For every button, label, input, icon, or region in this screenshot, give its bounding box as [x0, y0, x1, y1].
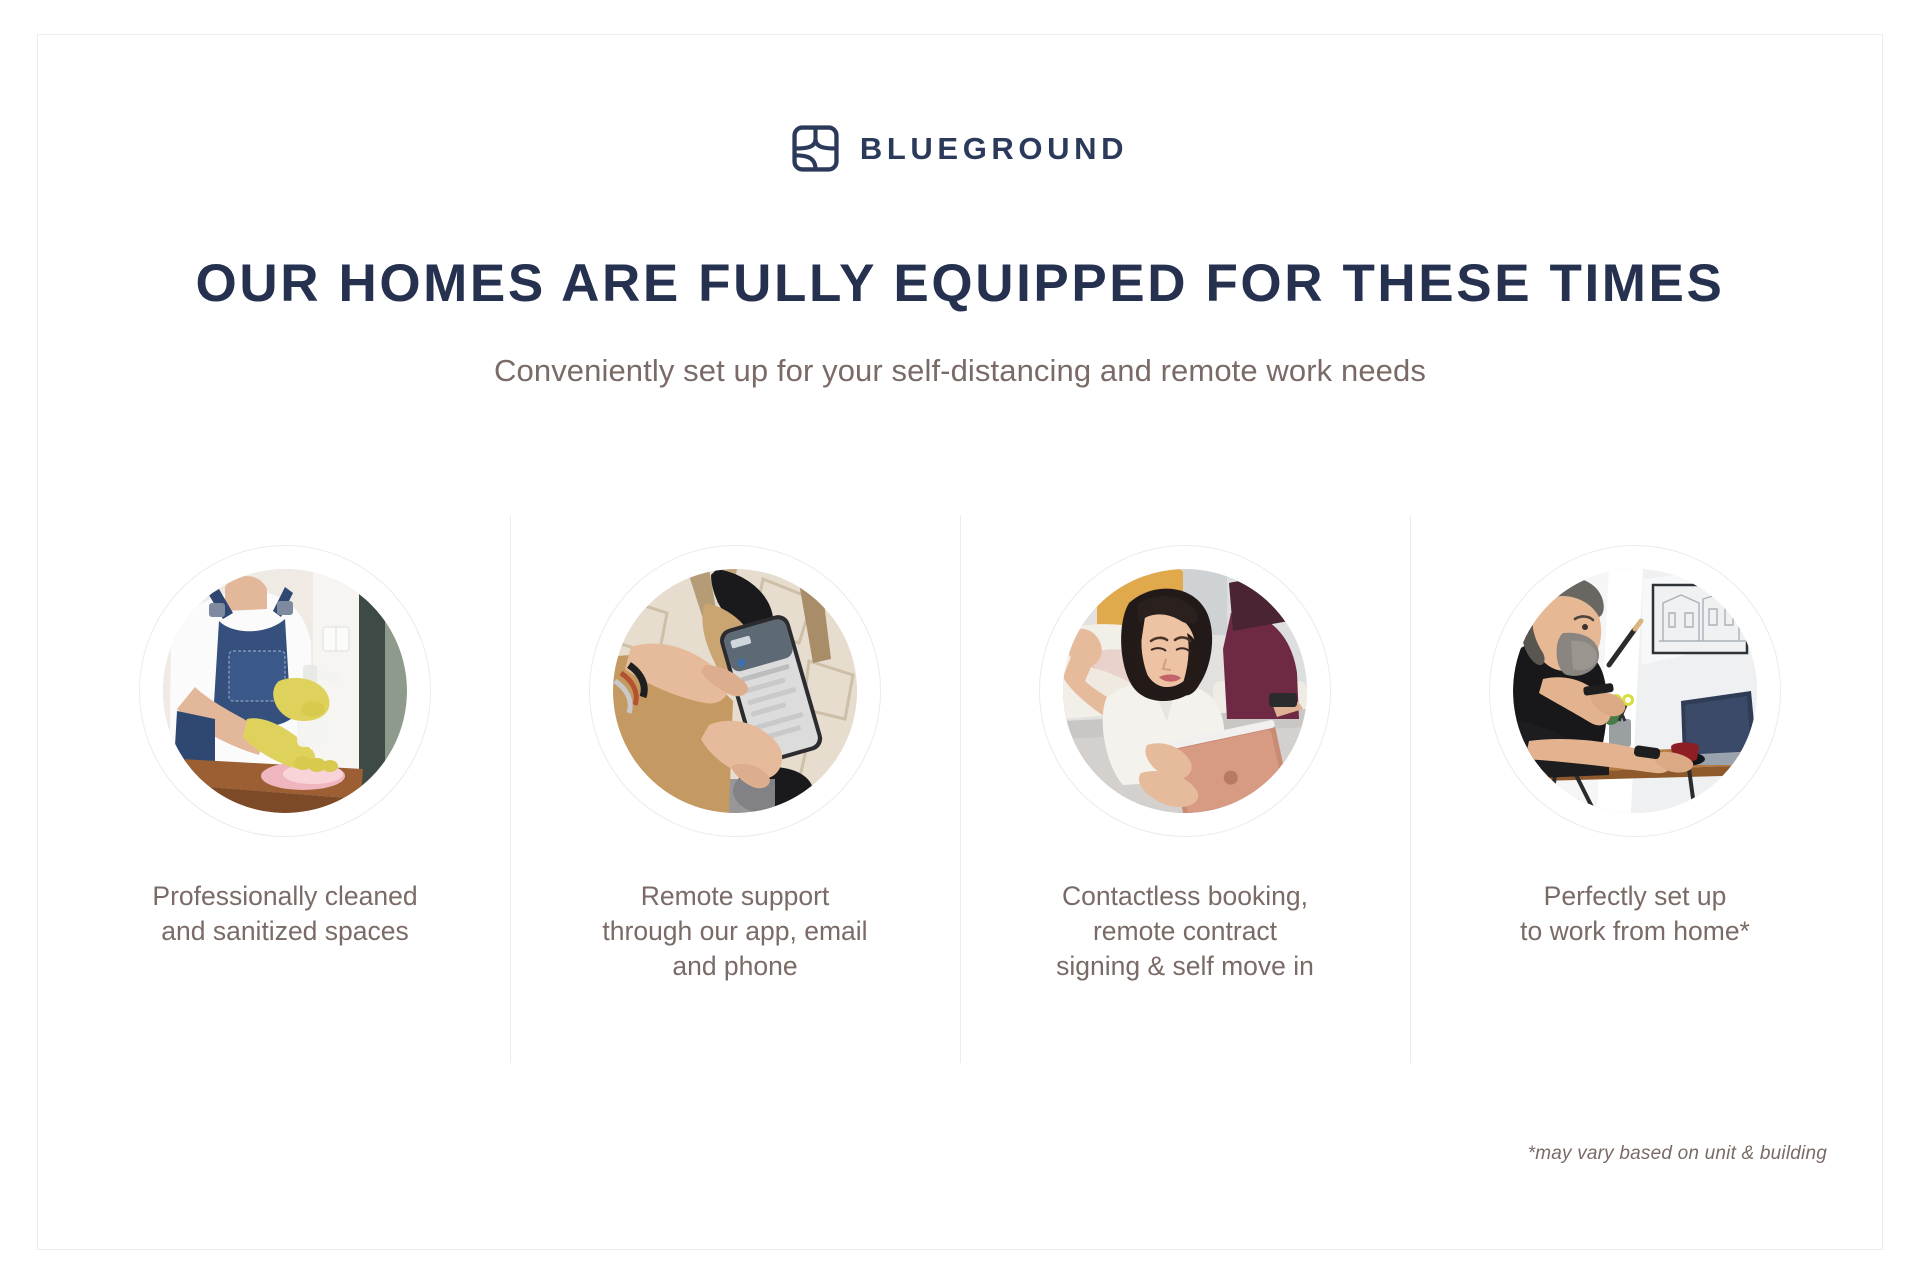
cleaning-professional-photo — [163, 569, 407, 813]
infographic-page: BLUEGROUND OUR HOMES ARE FULLY EQUIPPED … — [0, 0, 1920, 1280]
feature-column-cleaning: Professionally cleaned and sanitized spa… — [60, 515, 510, 1063]
brand-lockup: BLUEGROUND — [0, 125, 1920, 172]
mobile-app-support-photo — [613, 569, 857, 813]
feature-image-ring — [1039, 545, 1331, 837]
feature-caption: Contactless booking, remote contract sig… — [960, 879, 1410, 984]
feature-caption: Professionally cleaned and sanitized spa… — [60, 879, 510, 949]
feature-image-ring — [1489, 545, 1781, 837]
feature-column-remote-support: Remote support through our app, email an… — [510, 515, 960, 1063]
feature-caption: Remote support through our app, email an… — [510, 879, 960, 984]
page-title: OUR HOMES ARE FULLY EQUIPPED FOR THESE T… — [0, 255, 1920, 312]
brand-name: BLUEGROUND — [860, 133, 1128, 164]
blueground-logo-icon — [792, 125, 839, 172]
feature-columns: Professionally cleaned and sanitized spa… — [60, 515, 1860, 1063]
feature-caption: Perfectly set up to work from home* — [1410, 879, 1860, 949]
feature-image-ring — [139, 545, 431, 837]
page-subtitle: Conveniently set up for your self-distan… — [0, 352, 1920, 389]
footnote-disclaimer: *may vary based on unit & building — [1528, 1143, 1827, 1165]
feature-column-work-from-home: Perfectly set up to work from home* — [1410, 515, 1860, 1063]
feature-image-ring — [589, 545, 881, 837]
feature-column-contactless-booking: Contactless booking, remote contract sig… — [960, 515, 1410, 1063]
work-from-home-photo — [1513, 569, 1757, 813]
contactless-booking-photo — [1063, 569, 1307, 813]
